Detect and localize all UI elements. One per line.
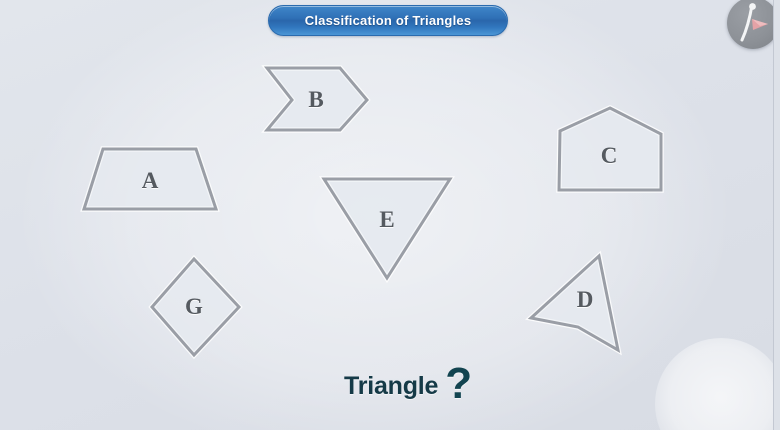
shape-diamond-rhombus[interactable] bbox=[152, 259, 239, 355]
prompt-row: Triangle ? bbox=[344, 362, 472, 401]
shape-trapezoid[interactable] bbox=[84, 149, 216, 209]
question-mark-icon: ? bbox=[445, 366, 472, 401]
slide-canvas: Classification of Triangles A B C D E G … bbox=[0, 0, 780, 430]
prompt-word: Triangle bbox=[344, 372, 438, 401]
shape-triangle-down[interactable] bbox=[324, 179, 450, 278]
shape-pentagon-house[interactable] bbox=[559, 108, 661, 190]
